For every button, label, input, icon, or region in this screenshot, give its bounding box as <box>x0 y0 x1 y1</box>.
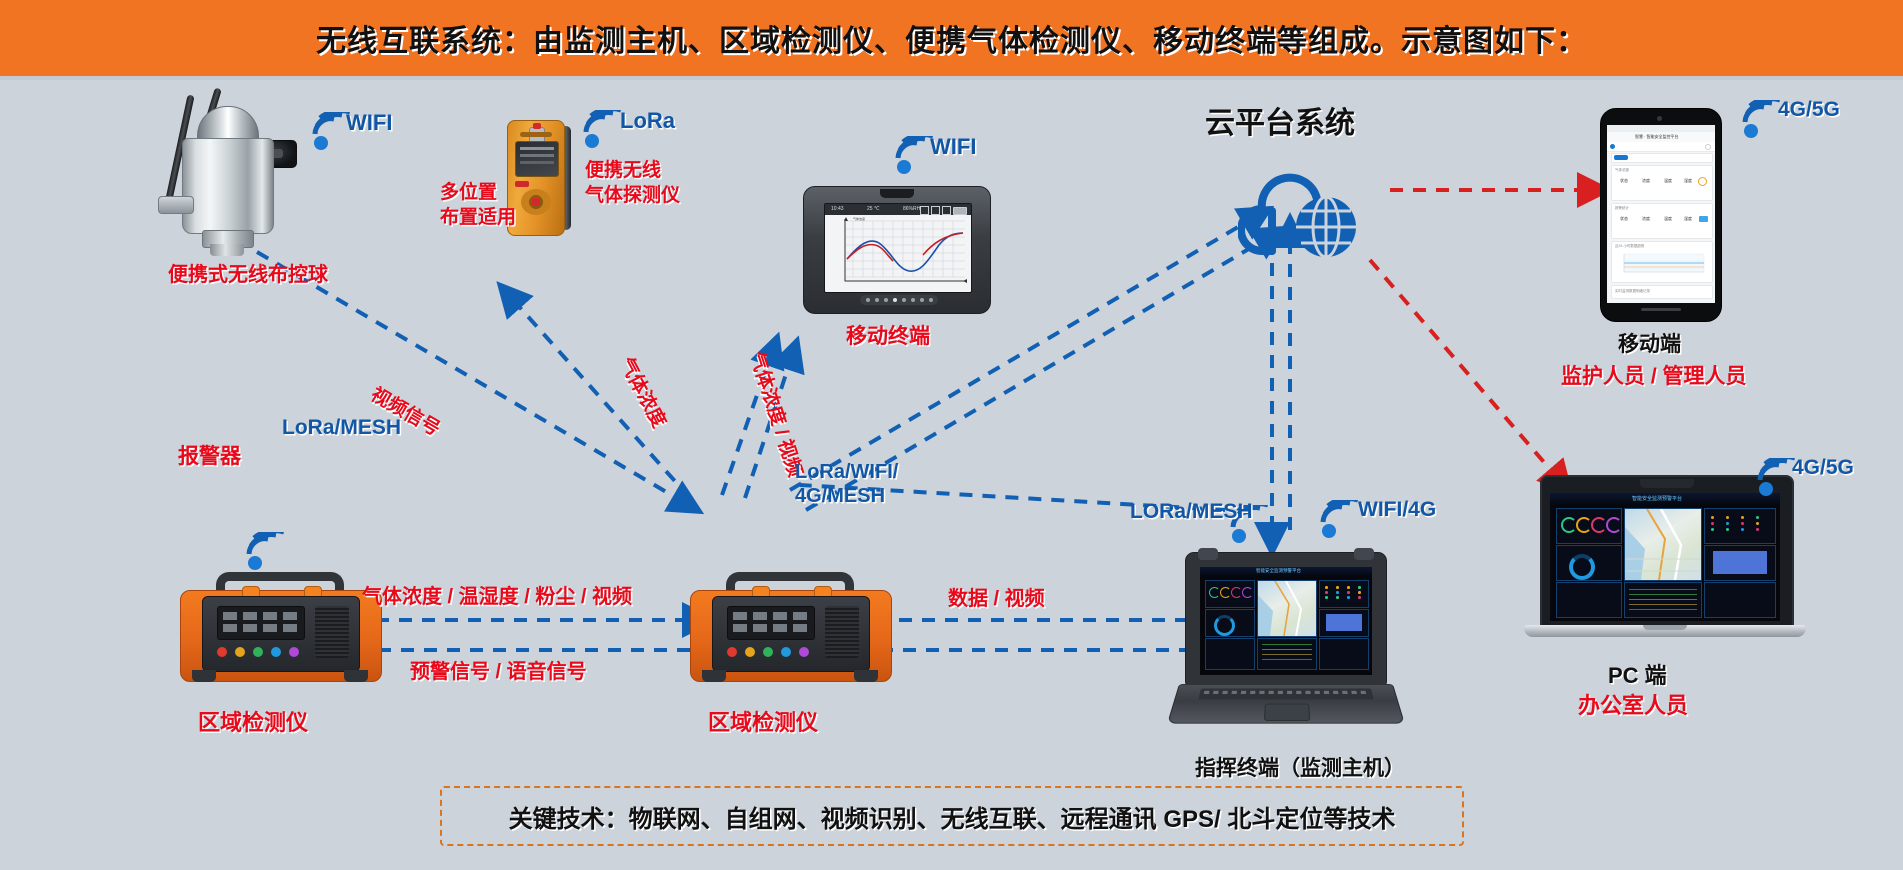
diagram-canvas: WIFI 便携式无线布控球 LoRa 多位置 便携无线气体探测仪 便携无线 气体… <box>0 80 1903 870</box>
camera-body <box>182 138 274 234</box>
pc-dashboard-screen: 智能安全监测预警平台 <box>1550 493 1780 621</box>
label-area-detector-left: 区域检测仪 <box>198 705 308 737</box>
node-portable-gas-detector[interactable] <box>507 102 577 242</box>
foot-right <box>854 670 878 682</box>
label-pc-laptop: PC 端 <box>1608 658 1667 690</box>
phone-statusbar <box>1607 125 1715 132</box>
command-laptop-base <box>1167 684 1405 724</box>
node-ptz-camera[interactable] <box>150 80 330 270</box>
dashboard-header: 智能安全监测预警平台 <box>1550 493 1780 505</box>
key-technologies-text: 关键技术：物联网、自组网、视频识别、无线互联、远程通讯 GPS/ 北斗定位等技术 <box>509 799 1396 834</box>
label-pgd-l2: 气体探测仪 <box>585 183 680 208</box>
donut-panel <box>1205 609 1255 637</box>
key-technologies-box: 关键技术：物联网、自组网、视频识别、无线互联、远程通讯 GPS/ 北斗定位等技术 <box>440 786 1464 846</box>
note-line1: 多位置 <box>440 180 516 205</box>
phone-search-row[interactable] <box>1611 153 1713 163</box>
node-command-terminal[interactable]: 智能安全监测预警平台 <box>1185 552 1397 752</box>
command-dashboard-screen: 智能安全监测预警平台 <box>1200 567 1372 675</box>
video-panel[interactable] <box>1704 545 1776 581</box>
status-badge <box>1698 177 1707 186</box>
battery-icon <box>953 207 967 215</box>
aux-panel-right <box>1704 582 1776 618</box>
tablet-frame: 10:43 25 ℃ 86%RH 气体浓度 <box>803 186 991 314</box>
gas-detector-screen <box>515 141 559 177</box>
phone-trend-chart <box>1616 251 1708 279</box>
label-mobile-phone: 移动端 <box>1618 328 1681 358</box>
phone-frame: 智慧 · 智能安全监控平台 气体浓度 状态 浓度 温度 湿度 报警统计 状态 浓… <box>1600 108 1722 322</box>
label-ptz-camera: 便携式无线布控球 <box>168 258 328 287</box>
signal-label-wifi: WIFI <box>346 110 392 136</box>
phone-app-title: 智慧 · 智能安全监控平台 <box>1635 134 1679 140</box>
tablet-statusbar: 10:43 25 ℃ 86%RH <box>825 204 971 215</box>
keyboard[interactable] <box>1198 689 1373 700</box>
bars-panel <box>1704 508 1776 544</box>
signal-label-lora-mesh: LORa/MESH <box>1130 500 1253 524</box>
statusbar-time: 10:43 <box>831 204 844 215</box>
note-multi-position: 多位置 布置适用 <box>440 180 516 230</box>
foot-left <box>702 670 726 682</box>
laptop-lid: 智能安全监测预警平台 <box>1540 475 1794 631</box>
card-title: 气体浓度 <box>1615 168 1629 173</box>
trackpad[interactable] <box>1264 704 1310 721</box>
phone-toolbar[interactable] <box>1607 142 1715 152</box>
aux-panel-left <box>1556 582 1622 618</box>
filter-chip[interactable] <box>1614 155 1628 160</box>
speaker-grille <box>825 606 859 658</box>
link-label-line2: 4G/MESH <box>795 484 898 508</box>
map-panel[interactable] <box>1624 508 1702 581</box>
mount-ear-left <box>1198 548 1218 560</box>
laptop-base <box>1524 625 1806 637</box>
node-pc-laptop[interactable]: 智能安全监测预警平台 <box>1540 475 1790 645</box>
log-panel <box>1257 638 1317 670</box>
map-panel[interactable] <box>1257 580 1317 637</box>
bars-panel <box>1319 580 1369 608</box>
card-title: 报警统计 <box>1615 206 1629 211</box>
node-area-detector[interactable] <box>690 572 890 680</box>
node-mobile-tablet[interactable]: 10:43 25 ℃ 86%RH 气体浓度 <box>803 186 989 312</box>
phone-card-2: 报警统计 状态 浓度 温度 湿度 <box>1611 203 1713 239</box>
home-indicator <box>1641 308 1681 311</box>
link-label-lora-wifi-4g-mesh: LoRa/WIFI/ 4G/MESH <box>795 460 898 508</box>
gear-icon[interactable] <box>1705 144 1711 150</box>
label-pgd-l1: 便携无线 <box>585 158 680 183</box>
link-label-line1: LoRa/WIFI/ <box>795 460 898 484</box>
led-row <box>727 647 817 657</box>
mount-ear-right <box>1354 548 1374 560</box>
phone-note-card: 实时监测数据明细记录 <box>1611 285 1713 299</box>
copy-icon <box>931 206 940 215</box>
signal-label-lora: LoRa <box>620 108 675 134</box>
power-button[interactable] <box>515 181 529 187</box>
sublabel-mobile-phone: 监护人员 / 管理人员 <box>1561 360 1747 390</box>
wifi-icon <box>1320 500 1362 538</box>
chart-title: 气体浓度 <box>853 216 865 221</box>
phone-screen: 智慧 · 智能安全监控平台 气体浓度 状态 浓度 温度 湿度 报警统计 状态 浓… <box>1607 125 1715 303</box>
foot-right <box>344 670 368 682</box>
camera-connector <box>158 196 194 214</box>
status-badge <box>1699 216 1708 222</box>
avatar[interactable] <box>1610 144 1615 149</box>
screenshot-icon <box>942 206 951 215</box>
tablet-screen: 10:43 25 ℃ 86%RH 气体浓度 <box>824 203 972 293</box>
speaker-grille <box>315 606 349 658</box>
log-panel <box>1624 582 1702 618</box>
statusbar-humidity: 86%RH <box>903 204 920 215</box>
node-mobile-phone[interactable]: 智慧 · 智能安全监控平台 气体浓度 状态 浓度 温度 湿度 报警统计 状态 浓… <box>1600 108 1720 320</box>
page-header: 无线互联系统：由监测主机、区域检测仪、便携气体检测仪、移动终端等组成。示意图如下… <box>0 0 1903 76</box>
label-cloud-platform: 云平台系统 <box>1205 98 1355 142</box>
note-text: 实时监测数据明细记录 <box>1615 289 1650 294</box>
aux-panel-left <box>1205 638 1255 670</box>
node-cloud-platform[interactable] <box>1238 155 1376 265</box>
link-label-data-video: 数据 / 视频 <box>948 582 1045 611</box>
signal-label-wifi-4g: WIFI/4G <box>1358 498 1436 522</box>
detector-display <box>217 606 305 640</box>
donut-panel <box>1556 545 1622 581</box>
globe-icon <box>1296 197 1356 257</box>
label-alarm-unit: 报警器 <box>178 440 241 470</box>
detector-front-panel <box>712 596 870 672</box>
dashboard-title: 智能安全监测预警平台 <box>1256 568 1301 574</box>
chart-title: 近24 小时数据趋势 <box>1615 244 1644 249</box>
wifi-icon <box>246 532 288 570</box>
dashboard-title: 智能安全监测预警平台 <box>1632 495 1682 502</box>
label-command-terminal: 指挥终端（监测主机） <box>1195 752 1405 782</box>
page-title: 无线互联系统：由监测主机、区域检测仪、便携气体检测仪、移动终端等组成。示意图如下… <box>316 16 1587 60</box>
detector-display <box>727 606 815 640</box>
gear-icon <box>920 206 929 215</box>
signal-label-4g5g: 4G/5G <box>1792 456 1854 480</box>
link-label-downlink: 预警信号 / 语音信号 <box>410 655 587 684</box>
wifi-icon <box>583 110 625 148</box>
video-panel[interactable] <box>1319 609 1369 637</box>
tablet-camera-icon <box>880 189 914 198</box>
phone-card-1: 气体浓度 状态 浓度 温度 湿度 <box>1611 165 1713 201</box>
foot-left <box>192 670 216 682</box>
speaker-slot <box>520 132 552 137</box>
label-portable-gas-detector: 便携无线气体探测仪 便携无线 气体探测仪 <box>585 158 680 208</box>
laptop-camera-icon <box>1640 479 1694 488</box>
signal-label-lora-mesh: LoRa/MESH <box>282 416 401 440</box>
phone-chart-card: 近24 小时数据趋势 <box>1611 241 1713 283</box>
dpad-control[interactable] <box>521 189 551 215</box>
led-row <box>217 647 307 657</box>
dashboard-header: 智能安全监测预警平台 <box>1200 567 1372 577</box>
sublabel-pc-laptop: 办公室人员 <box>1578 688 1688 720</box>
tablet-button-row[interactable] <box>860 295 938 305</box>
camera-base-ring <box>210 244 244 256</box>
node-alarm-unit[interactable] <box>180 572 380 680</box>
signal-label-wifi: WIFI <box>930 134 976 160</box>
gauge-panel <box>1556 508 1622 544</box>
label-mobile-tablet: 移动终端 <box>846 320 930 350</box>
note-line2: 布置适用 <box>440 205 516 230</box>
tablet-trend-chart: 气体浓度 <box>825 215 971 292</box>
signal-label-4g5g: 4G/5G <box>1778 98 1840 122</box>
command-laptop-lid: 智能安全监测预警平台 <box>1185 552 1387 690</box>
aux-panel-right <box>1319 638 1369 670</box>
statusbar-temp: 25 ℃ <box>867 204 880 215</box>
gauge-panel <box>1205 580 1255 608</box>
detector-front-panel <box>202 596 360 672</box>
label-area-detector-center: 区域检测仪 <box>708 705 818 737</box>
front-camera-icon <box>1657 116 1662 121</box>
link-label-uplink: 气体浓度 / 温湿度 / 粉尘 / 视频 <box>362 580 632 609</box>
